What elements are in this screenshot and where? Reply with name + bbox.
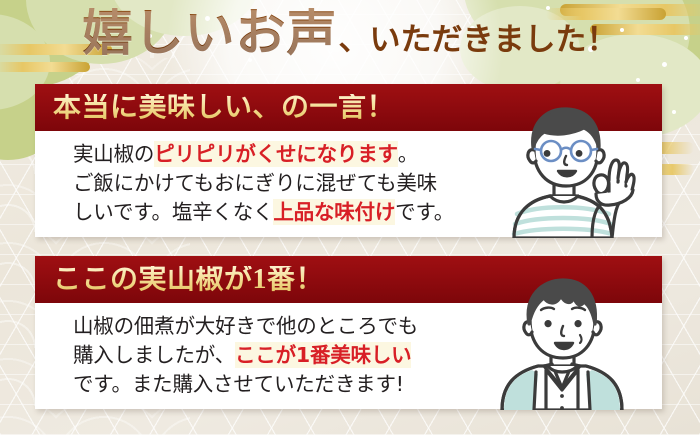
plain-phrase: です。 bbox=[395, 200, 454, 224]
plain-phrase: 実山椒の bbox=[73, 142, 154, 166]
testimonial-title: 本当に美味しい、の一言！ bbox=[53, 94, 395, 122]
promo-banner: 嬉しいお声、いただきました！ 本当に美味しい、の一言！ 実山椒のピリピリがくせに… bbox=[0, 0, 700, 435]
testimonial-line: しいです。塩辛くなく上品な味付けです。 bbox=[73, 198, 662, 227]
testimonial-line: ご飯にかけてもおにぎりに混ぜても美味 bbox=[73, 169, 662, 198]
plain-phrase: しいです。塩辛くなく bbox=[73, 200, 273, 224]
testimonial-line: 購入しましたが、ここが1番美味しい bbox=[73, 341, 662, 370]
sparkle-dot bbox=[636, 78, 640, 82]
plain-phrase: 山椒の佃煮が大好きで他のところでも bbox=[73, 314, 418, 338]
testimonial-header: 本当に美味しい、の一言！ bbox=[35, 84, 662, 131]
testimonial-title: ここの実山椒が1番！ bbox=[53, 266, 324, 294]
highlighted-phrase: ここが1番美味しい bbox=[235, 342, 411, 368]
testimonial-line: 山椒の佃煮が大好きで他のところでも bbox=[73, 312, 662, 341]
testimonial-line: 実山椒のピリピリがくせになります。 bbox=[73, 140, 662, 169]
testimonial-line: です。また購入させていただきます! bbox=[73, 370, 662, 399]
plain-phrase: です。また購入させていただきます! bbox=[73, 372, 404, 396]
testimonial-card: 本当に美味しい、の一言！ 実山椒のピリピリがくせになります。 ご飯にかけてもおに… bbox=[35, 84, 662, 237]
highlighted-phrase: ピリピリがくせになります bbox=[154, 141, 398, 167]
plain-phrase: ご飯にかけてもおにぎりに混ぜても美味 bbox=[73, 171, 437, 195]
highlighted-phrase: 上品な味付け bbox=[273, 199, 395, 225]
testimonial-card: ここの実山椒が1番！ 山椒の佃煮が大好きで他のところでも 購入しましたが、ここが… bbox=[35, 256, 662, 409]
page-title-sub: 、いただきました！ bbox=[339, 25, 618, 56]
page-title-main: 嬉しいお声 bbox=[83, 8, 338, 58]
sparkle-dot bbox=[672, 110, 676, 114]
plain-phrase: 購入しましたが、 bbox=[73, 343, 235, 367]
testimonial-header: ここの実山椒が1番！ bbox=[35, 256, 662, 303]
testimonial-body: 実山椒のピリピリがくせになります。 ご飯にかけてもおにぎりに混ぜても美味 しいで… bbox=[35, 131, 662, 237]
testimonial-body: 山椒の佃煮が大好きで他のところでも 購入しましたが、ここが1番美味しい です。ま… bbox=[35, 303, 662, 409]
page-title: 嬉しいお声、いただきました！ bbox=[0, 8, 700, 76]
plain-phrase: 。 bbox=[398, 142, 418, 166]
